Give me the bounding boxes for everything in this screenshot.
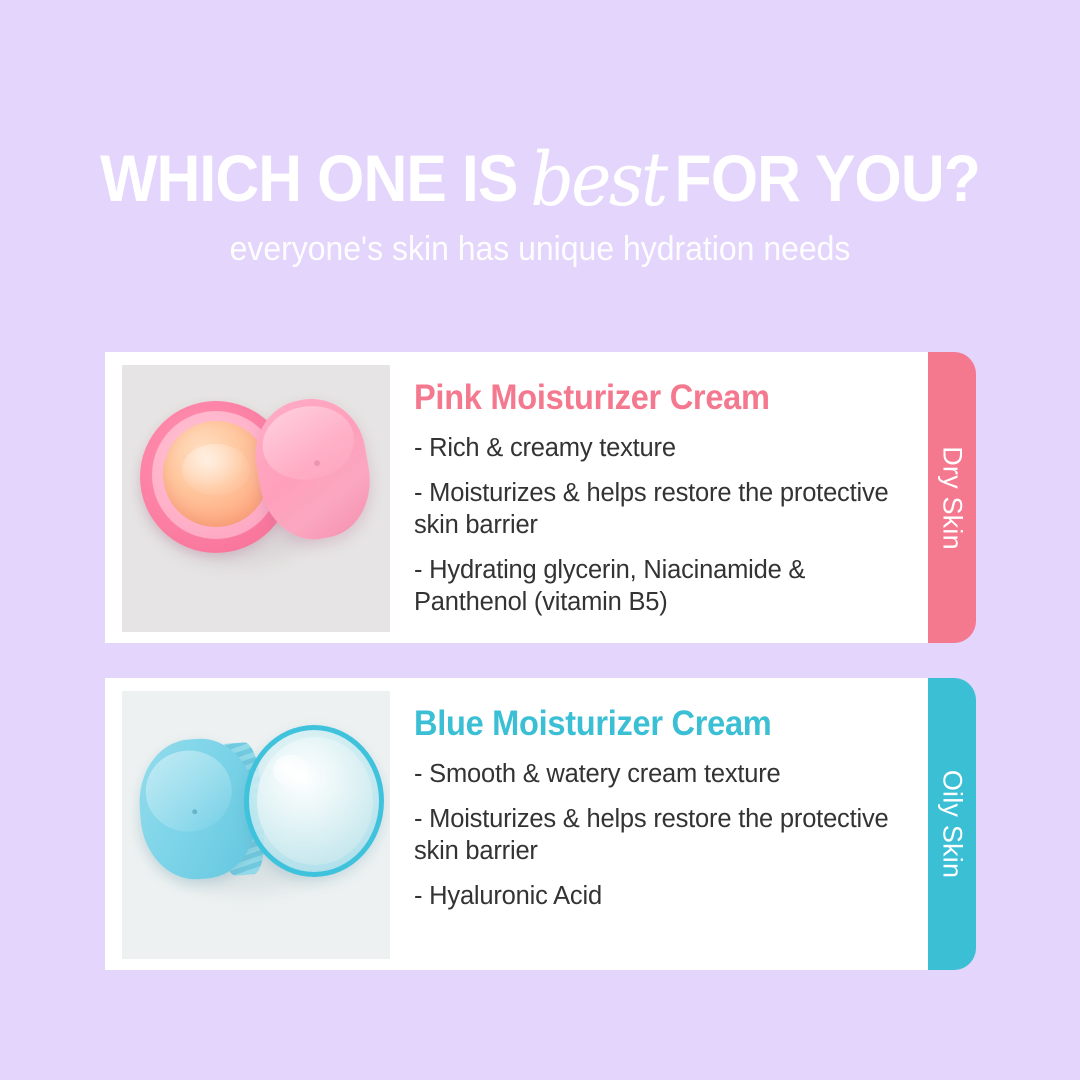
- product-card-blue: Blue Moisturizer Cream - Smooth & watery…: [105, 678, 928, 970]
- skin-type-tab-label: Dry Skin: [937, 446, 968, 550]
- page-subtitle: everyone's skin has unique hydration nee…: [32, 214, 1047, 269]
- product-bullet: - Smooth & watery cream texture: [414, 758, 902, 790]
- product-details-pink: Pink Moisturizer Cream - Rich & creamy t…: [390, 352, 928, 643]
- skin-type-tab-dry: Dry Skin: [928, 352, 976, 643]
- product-photo-blue: [122, 691, 390, 959]
- skin-type-tab-oily: Oily Skin: [928, 678, 976, 970]
- headline-script-word: best: [530, 137, 665, 223]
- cream-surface: [257, 737, 373, 865]
- product-bullet: - Hydrating glycerin, Niacinamide & Pant…: [414, 554, 902, 618]
- skin-type-tab-label: Oily Skin: [937, 770, 968, 878]
- product-title-blue: Blue Moisturizer Cream: [414, 704, 868, 744]
- product-bullet: - Moisturizes & helps restore the protec…: [414, 477, 902, 541]
- product-card-pink: Pink Moisturizer Cream - Rich & creamy t…: [105, 352, 928, 643]
- headline-part-two: FOR YOU?: [675, 140, 980, 216]
- product-photo-pink: [122, 365, 390, 632]
- product-bullet: - Hyaluronic Acid: [414, 880, 902, 912]
- cream-surface: [163, 421, 269, 527]
- headline-part-one: WHICH ONE IS: [100, 140, 517, 216]
- product-details-blue: Blue Moisturizer Cream - Smooth & watery…: [390, 678, 928, 970]
- product-title-pink: Pink Moisturizer Cream: [414, 378, 868, 418]
- header: WHICH ONE ISbestFOR YOU? everyone's skin…: [0, 0, 1080, 269]
- product-bullet: - Moisturizes & helps restore the protec…: [414, 803, 902, 867]
- page-headline: WHICH ONE ISbestFOR YOU?: [43, 0, 1037, 214]
- product-bullet: - Rich & creamy texture: [414, 432, 902, 464]
